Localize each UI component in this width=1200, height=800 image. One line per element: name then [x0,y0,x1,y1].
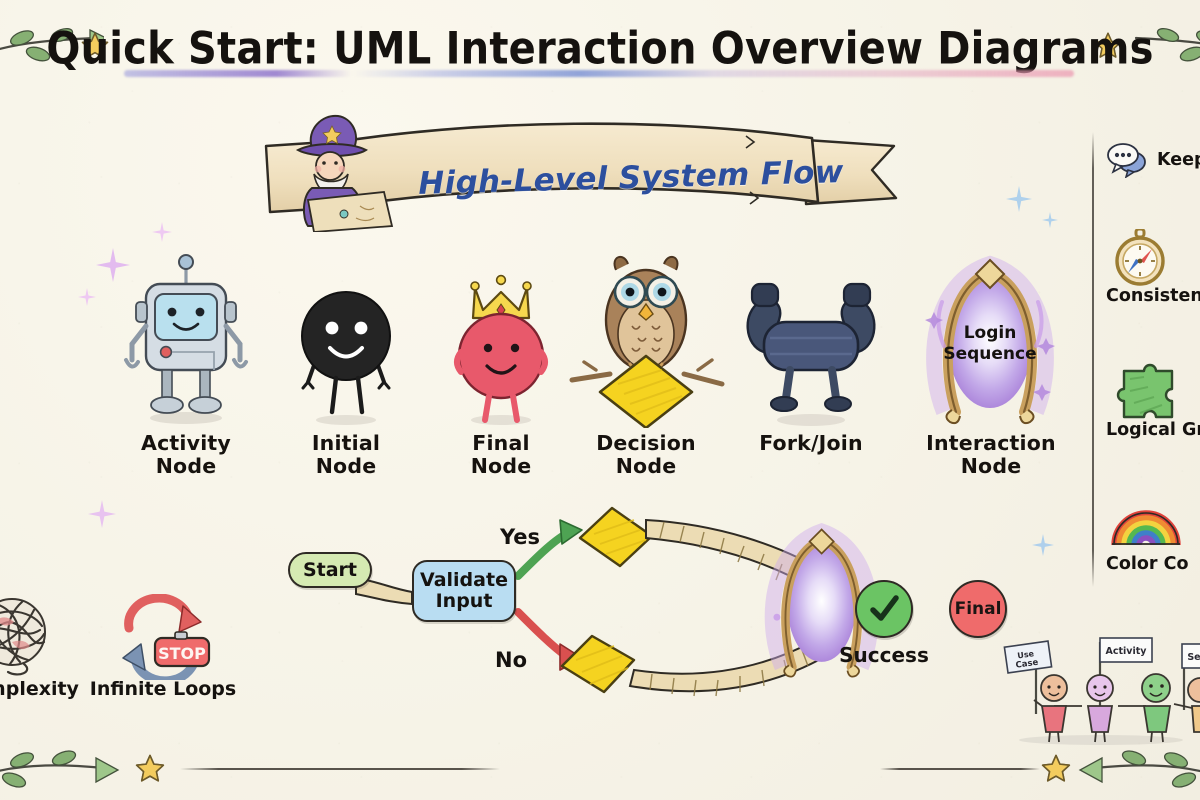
star-bottom-right-icon [1040,752,1072,784]
bottom-rule-right [880,768,1040,770]
sidebar-item-logical-grouping[interactable]: Logical Gro [1106,364,1200,440]
sidebar-item-label: Keep [1157,150,1200,170]
node-label-line1: Activity [106,432,266,455]
flag-label: Seque [1187,652,1200,663]
node-label-line2: Node [106,455,266,478]
node-label-line1: Interaction [911,432,1071,455]
interaction-node-inner-line2: Sequence [943,344,1036,364]
node-activity[interactable]: Activity Node [106,246,266,478]
node-label-line2: Node [421,455,581,478]
black-circle-face-icon [266,246,426,428]
banner: High-Level System Flow [246,112,906,232]
node-label: Decision Node [566,432,726,478]
node-fork-join[interactable]: Fork/Join [731,246,891,455]
flow-start-node[interactable]: Start [288,552,372,588]
flow-no-label: No [495,648,527,672]
muscle-bar-icon [731,246,891,428]
loop-stop-icon: STOP [88,596,238,678]
node-label-line1: Initial [266,432,426,455]
node-label-line2: Node [566,455,726,478]
pitfall-infinite-loops[interactable]: STOP Infinite Loops [88,596,238,700]
sidebar-item-label: Consistent [1106,286,1200,306]
flow-start-label: Start [303,560,357,581]
flow-diagram: Start Validate Input Yes No Success Fina… [260,500,960,720]
flow-validate-node[interactable]: Validate Input [412,560,516,622]
node-label-line1: Final [421,432,581,455]
node-final[interactable]: Final Node [421,246,581,478]
node-label-line2: Node [266,455,426,478]
node-label: Final Node [421,432,581,478]
pitfalls-group: -Complexity STOP Infinite Loops [0,596,262,736]
flow-validate-label-line2: Input [436,591,493,612]
svg-text:STOP: STOP [158,644,206,663]
tangled-yarn-icon [0,596,90,678]
flow-final-label: Final [955,599,1002,619]
sidebar-divider [1092,132,1094,587]
pitfall-over-complexity[interactable]: -Complexity [0,596,90,700]
compass-icon [1106,230,1200,286]
sidebar-item-consistent[interactable]: Consistent [1106,230,1200,306]
speech-bubbles-icon [1106,132,1150,188]
portal-frame-icon: Login Sequence [911,246,1071,428]
flow-validate-label-line1: Validate [420,570,508,591]
node-interaction[interactable]: Login Sequence Interaction Node [911,246,1071,478]
rainbow-icon [1106,492,1200,554]
infographic-page: Quick Start: UML Interaction Overview Di… [0,0,1200,800]
flow-success-label: Success [834,643,934,667]
flow-success-badge[interactable]: Success [834,580,934,667]
sparkle-icon [78,288,96,306]
flag-label: Activity [1106,646,1148,657]
pitfall-label: Infinite Loops [88,678,238,700]
stick-figure [1142,674,1170,742]
crowned-red-circle-icon [421,246,581,428]
title-underline [124,70,1074,77]
flow-final-badge[interactable]: Final [934,580,1022,638]
node-label-line2: Node [911,455,1071,478]
sparkle-icon [152,222,172,242]
diagram-family-crowd: Use Case Activity Seque [996,636,1200,746]
sparkle-icon [1042,212,1058,228]
sparkle-icon [1006,186,1032,212]
node-label: Activity Node [106,432,266,478]
node-label: Initial Node [266,432,426,478]
node-decision[interactable]: Decision Node [566,246,726,478]
node-label: Interaction Node [911,432,1071,478]
node-label-line1: Decision [566,432,726,455]
flow-final-circle: Final [949,580,1007,638]
bottom-rule-left [180,768,500,770]
sidebar-item-color-coding[interactable]: Color Co [1106,492,1200,574]
sidebar-item-label: Logical Gro [1106,420,1200,440]
best-practices-sidebar: Keep Consistent [1106,132,1200,592]
node-label: Fork/Join [731,432,891,455]
sparkle-icon [1032,534,1054,556]
vine-bottom-left-icon [0,748,122,792]
node-label-line1: Fork/Join [731,432,891,455]
puzzle-piece-icon [1106,364,1200,420]
owl-on-diamond-icon [566,246,726,428]
stick-figure [1034,675,1067,742]
node-legend-row: Activity Node [96,246,1096,508]
node-initial[interactable]: Initial Node [266,246,426,478]
vine-bottom-right-icon [1076,748,1200,792]
interaction-node-inner-line1: Login [964,323,1017,343]
sidebar-item-label: Color Co [1106,554,1200,574]
stick-figure [1188,678,1200,732]
star-bottom-left-icon [134,752,166,784]
flow-yes-label: Yes [500,525,540,549]
robot-icon [106,246,266,428]
sidebar-item-keep-simple[interactable]: Keep [1106,132,1200,188]
pitfall-label: -Complexity [0,678,90,700]
page-title: Quick Start: UML Interaction Overview Di… [46,23,1153,75]
stick-figure [1087,675,1113,742]
check-mark-icon [855,580,913,638]
